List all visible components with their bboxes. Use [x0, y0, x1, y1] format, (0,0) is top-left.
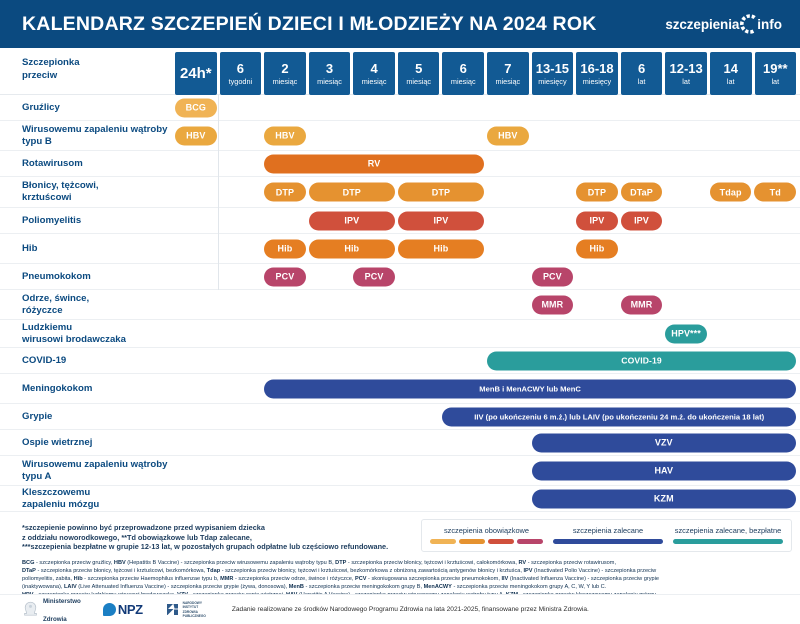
row-track: DTPDTPDTPDTPDTaPTdapTd — [175, 177, 800, 207]
age-unit: miesiąc — [317, 78, 342, 85]
calendar-row: PoliomyelitisIPVIPVIPVIPV — [0, 208, 800, 234]
page-title: KALENDARZ SZCZEPIEŃ DZIECI I MŁODZIEŻY N… — [22, 13, 596, 36]
legend-item: szczepienia zalecane — [553, 526, 663, 544]
row-track: PCVPCVPCV — [175, 264, 800, 289]
vaccine-pill: IPV — [309, 211, 395, 230]
vaccine-pill: HBV — [264, 126, 306, 145]
calendar-row: Odrze, śwince,różyczceMMRMMR — [0, 290, 800, 320]
age-unit: lat — [727, 78, 735, 85]
age-column-header: 4miesiąc — [353, 52, 395, 95]
legend-item: szczepienia zalecane, bezpłatne — [673, 526, 783, 544]
age-value: 19** — [763, 62, 788, 75]
glossary-line-3: poliomyelitis, zabita, Hib - szczepionka… — [22, 576, 792, 583]
calendar-grid: GruźlicyBCGWirusowemu zapaleniu wątrobyt… — [0, 95, 800, 512]
footnote-line-1: *szczepienie powinno być przeprowadzone … — [22, 523, 411, 533]
vaccine-pill: COVID-19 — [487, 351, 796, 370]
legend-swatches — [553, 539, 663, 544]
age-value: 5 — [415, 62, 422, 75]
age-value: 13-15 — [536, 62, 569, 75]
vaccine-pill: IIV (po ukończeniu 6 m.ż.) lub LAIV (po … — [442, 407, 796, 426]
calendar-row: PneumokokomPCVPCVPCV — [0, 264, 800, 290]
brand-suffix-text: info — [757, 17, 782, 32]
vaccine-pill: HPV*** — [665, 324, 707, 343]
vaccination-calendar-infographic: KALENDARZ SZCZEPIEŃ DZIECI I MŁODZIEŻY N… — [0, 0, 800, 624]
calendar-row: MeningokokomMenB i MenACWY lub MenC — [0, 374, 800, 404]
calendar-row: Błonicy, tężcowi,krztuścowiDTPDTPDTPDTPD… — [0, 177, 800, 208]
age-column-header: 2miesiąc — [264, 52, 306, 95]
vaccine-pill: DTP — [576, 183, 618, 202]
age-column-header: 12-13lat — [665, 52, 707, 95]
disease-label: Poliomyelitis — [0, 215, 175, 227]
vaccine-pill: DTP — [264, 183, 306, 202]
legend-swatch — [430, 539, 456, 544]
disease-label: Odrze, śwince,różyczce — [0, 293, 175, 317]
row-track: VZV — [175, 430, 800, 455]
row-track: KZM — [175, 486, 800, 511]
ministry-of-health-logo: Ministerstwo Zdrowia — [22, 590, 81, 624]
vaccine-pill: DTP — [309, 183, 395, 202]
age-unit: miesięcy — [538, 78, 566, 85]
age-value: 14 — [723, 62, 737, 75]
disease-label: Hib — [0, 243, 175, 255]
glossary-line-1: BCG - szczepionka przeciw gruźlicy, HBV … — [22, 560, 792, 567]
legend-swatches — [430, 539, 543, 544]
npz-name: NPZ — [118, 601, 143, 619]
vaccine-pill: Hib — [264, 239, 306, 258]
row-track: HPV*** — [175, 320, 800, 347]
disease-label: Grypie — [0, 411, 175, 423]
row-track: HAV — [175, 456, 800, 485]
footnotes: *szczepienie powinno być przeprowadzone … — [22, 519, 411, 552]
footnote-line-2: z oddziału noworodkowego, **Td obowiązko… — [22, 533, 411, 543]
disease-label: Pneumokokom — [0, 271, 175, 283]
age-value: 3 — [326, 62, 333, 75]
disease-label: Ludzkiemuwirusowi brodawczaka — [0, 322, 175, 346]
glossary-line-2: DTaP - szczepionka przeciw błonicy, tężc… — [22, 568, 792, 575]
age-column-header: 16-18miesięcy — [576, 52, 618, 95]
row-track: RV — [175, 151, 800, 176]
brand-logo: szczepienia info — [665, 13, 782, 35]
age-value: 6 — [460, 62, 467, 75]
column-divider — [218, 95, 219, 290]
age-column-header: 6tygodni — [220, 52, 262, 95]
legend-swatch — [488, 539, 514, 544]
funding-note: Zadanie realizowane ze środków Narodoweg… — [232, 606, 589, 613]
age-value: 16-18 — [580, 62, 613, 75]
brand-name-text: szczepienia — [665, 17, 739, 32]
disease-label: Wirusowemu zapaleniu wątrobytypu A — [0, 459, 175, 483]
vaccine-pill: PCV — [353, 267, 395, 286]
age-unit: miesiąc — [495, 78, 520, 85]
vaccine-pill: MMR — [621, 295, 663, 314]
vaccine-pill: HBV — [487, 126, 529, 145]
vaccine-pill: PCV — [532, 267, 574, 286]
vaccine-pill: Hib — [576, 239, 618, 258]
footnotes-and-legend: *szczepienie powinno być przeprowadzone … — [0, 512, 800, 556]
age-unit: miesiąc — [406, 78, 431, 85]
vaccine-pill: MenB i MenACWY lub MenC — [264, 379, 796, 398]
footnote-line-3: ***szczepienia bezpłatne w grupie 12-13 … — [22, 542, 411, 552]
vaccine-pill: DTP — [398, 183, 484, 202]
age-column-header: 6lat — [621, 52, 663, 95]
calendar-row: Kleszczowemuzapaleniu mózguKZM — [0, 486, 800, 512]
age-value: 12-13 — [670, 62, 703, 75]
npz-leaf-icon — [103, 603, 116, 616]
age-column-header: 3miesiąc — [309, 52, 351, 95]
age-column-header: 13-15miesięcy — [532, 52, 574, 95]
legend-swatch — [459, 539, 485, 544]
row-track: HBVHBVHBV — [175, 121, 800, 150]
disease-label: COVID-19 — [0, 355, 175, 367]
vaccine-pill: BCG — [175, 98, 217, 117]
age-unit: lat — [682, 78, 690, 85]
age-value: 2 — [281, 62, 288, 75]
row-track: COVID-19 — [175, 348, 800, 373]
age-column-header: 19**lat — [755, 52, 797, 95]
age-column-header: 6miesiąc — [442, 52, 484, 95]
age-value: 6 — [638, 62, 645, 75]
footer-bar: Ministerstwo Zdrowia NPZ NARODOWY — [0, 594, 800, 624]
disease-label: Meningokokom — [0, 383, 175, 395]
row-track: MMRMMR — [175, 290, 800, 319]
vaccine-pill: IPV — [621, 211, 663, 230]
legend-swatch — [673, 539, 783, 544]
age-value: 4 — [370, 62, 377, 75]
vaccine-pill: IPV — [398, 211, 484, 230]
age-unit: lat — [638, 78, 646, 85]
polish-eagle-icon — [22, 601, 39, 619]
npz-logo: NPZ — [103, 601, 143, 619]
disease-label: Wirusowemu zapaleniu wątrobytypu B — [0, 124, 175, 148]
disease-label: Kleszczowemuzapaleniu mózgu — [0, 487, 175, 511]
age-value: 7 — [504, 62, 511, 75]
age-unit: miesiąc — [273, 78, 298, 85]
disease-label: Błonicy, tężcowi,krztuścowi — [0, 180, 175, 204]
calendar-row: HibHibHibHibHib — [0, 234, 800, 264]
calendar-row: COVID-19COVID-19 — [0, 348, 800, 374]
age-unit: miesiąc — [451, 78, 476, 85]
age-value: 24h* — [180, 66, 212, 81]
column-header-row: Szczepionka przeciw 24h*6tygodni2miesiąc… — [0, 48, 800, 95]
legend-swatch — [553, 539, 663, 544]
disease-label: Gruźlicy — [0, 102, 175, 114]
age-column-header: 7miesiąc — [487, 52, 529, 95]
disease-label: Rotawirusom — [0, 158, 175, 170]
calendar-row: RotawirusomRV — [0, 151, 800, 177]
vaccine-pill: PCV — [264, 267, 306, 286]
vaccine-pill: HAV — [532, 461, 796, 480]
vaccine-pill: Td — [754, 183, 796, 202]
row-track: IIV (po ukończeniu 6 m.ż.) lub LAIV (po … — [175, 404, 800, 429]
age-column-header: 5miesiąc — [398, 52, 440, 95]
vaccine-pill: RV — [264, 154, 484, 173]
calendar-row: GrypieIIV (po ukończeniu 6 m.ż.) lub LAI… — [0, 404, 800, 430]
vaccine-pill: Hib — [309, 239, 395, 258]
c-ring-icon — [738, 13, 760, 35]
calendar-row: Ludzkiemuwirusowi brodawczakaHPV*** — [0, 320, 800, 348]
vaccine-pill: IPV — [576, 211, 618, 230]
age-unit: tygodni — [229, 78, 253, 85]
glossary-line-4: (inaktywowana), LAIV (Live Attenuated In… — [22, 584, 792, 591]
vaccine-pill: Tdap — [710, 183, 752, 202]
age-unit: lat — [771, 78, 779, 85]
nizp-name: NARODOWY INSTYTUT ZDROWIA PUBLICZNEGO — [183, 601, 206, 617]
calendar-row: GruźlicyBCG — [0, 95, 800, 121]
legend-label: szczepienia zalecane, bezpłatne — [675, 526, 781, 535]
age-column-headers: 24h*6tygodni2miesiąc3miesiąc4miesiąc5mie… — [175, 52, 796, 95]
ministry-name: Ministerstwo Zdrowia — [43, 590, 81, 624]
calendar-row: Ospie wietrznejVZV — [0, 430, 800, 456]
calendar-row: Wirusowemu zapaleniu wątrobytypu AHAV — [0, 456, 800, 486]
disease-label: Ospie wietrznej — [0, 437, 175, 449]
vaccine-pill: HBV — [175, 126, 217, 145]
age-column-header: 24h* — [175, 52, 217, 95]
age-unit: miesiąc — [362, 78, 387, 85]
row-track: HibHibHibHib — [175, 234, 800, 263]
vaccine-pill: DTaP — [621, 183, 663, 202]
vaccine-pill: KZM — [532, 489, 796, 508]
age-unit: miesięcy — [583, 78, 611, 85]
vaccine-pill: VZV — [532, 433, 796, 452]
calendar-row: Wirusowemu zapaleniu wątrobytypu BHBVHBV… — [0, 121, 800, 151]
age-column-header: 14lat — [710, 52, 752, 95]
row-track: IPVIPVIPVIPV — [175, 208, 800, 233]
nizp-mark-icon — [165, 602, 180, 617]
legend: szczepienia obowiązkoweszczepienia zalec… — [421, 519, 792, 552]
row-track: BCG — [175, 95, 800, 120]
vaccine-pill: MMR — [532, 295, 574, 314]
legend-swatch — [517, 539, 543, 544]
legend-label: szczepienia zalecane — [573, 526, 643, 535]
corner-label: Szczepionka przeciw — [22, 57, 162, 82]
row-track: MenB i MenACWY lub MenC — [175, 374, 800, 403]
age-value: 6 — [237, 62, 244, 75]
legend-swatches — [673, 539, 783, 544]
legend-label: szczepienia obowiązkowe — [444, 526, 529, 535]
vaccine-pill: Hib — [398, 239, 484, 258]
legend-item: szczepienia obowiązkowe — [430, 526, 543, 544]
header-bar: KALENDARZ SZCZEPIEŃ DZIECI I MŁODZIEŻY N… — [0, 0, 800, 48]
nizp-logo: NARODOWY INSTYTUT ZDROWIA PUBLICZNEGO — [165, 601, 206, 617]
